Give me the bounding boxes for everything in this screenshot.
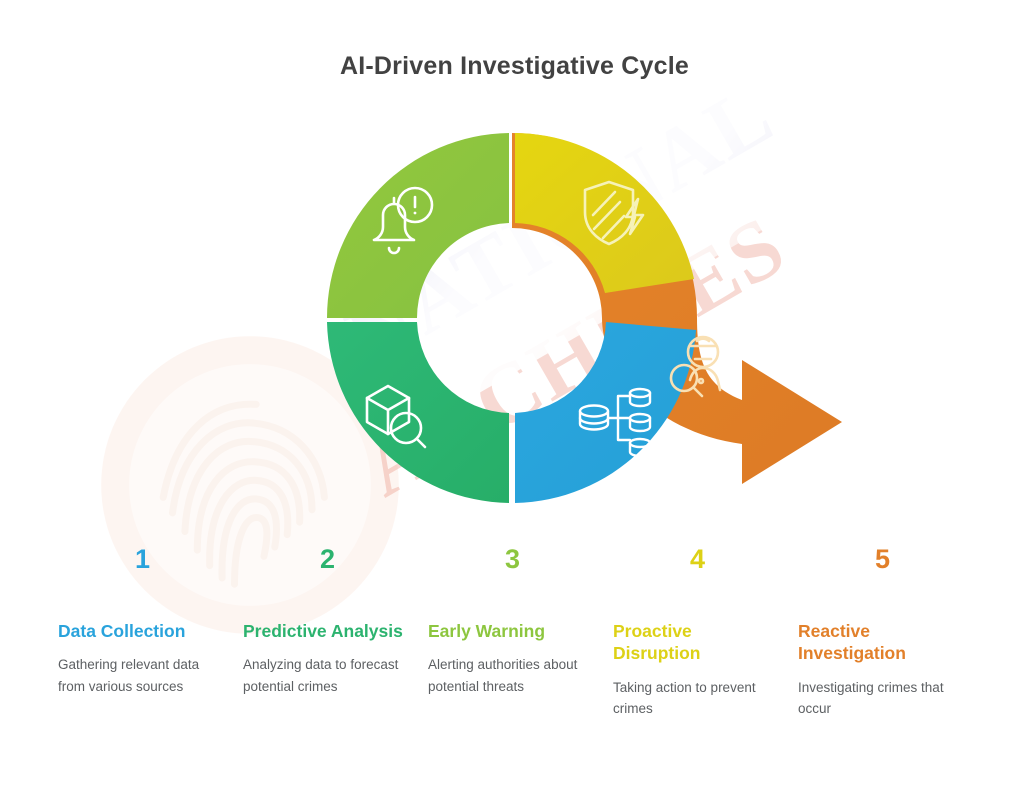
step-item-3[interactable]: 3 Early Warning Alerting authorities abo… — [428, 546, 613, 776]
step-title: Early Warning — [428, 620, 597, 642]
step-description: Taking action to prevent crimes — [613, 677, 782, 720]
step-description: Analyzing data to forecast potential cri… — [243, 654, 412, 697]
step-title: Predictive Analysis — [243, 620, 412, 642]
segment-predictive-analysis[interactable] — [327, 322, 509, 503]
investigative-cycle-diagram — [0, 0, 1029, 540]
segment-early-warning[interactable] — [327, 133, 509, 318]
proactive-disruption-arc — [515, 133, 694, 293]
step-title: Proactive Disruption — [613, 620, 782, 665]
step-item-5[interactable]: 5 Reactive Investigation Investigating c… — [798, 546, 983, 776]
step-number: 3 — [428, 546, 597, 573]
step-title: Data Collection — [58, 620, 227, 642]
segment-data-collection[interactable] — [515, 322, 696, 503]
segment-proactive-disruption[interactable] — [515, 133, 694, 293]
steps-legend: 1 Data Collection Gathering relevant dat… — [58, 546, 1008, 776]
data-collection-arc — [515, 322, 696, 503]
step-title: Reactive Investigation — [798, 620, 967, 665]
step-item-1[interactable]: 1 Data Collection Gathering relevant dat… — [58, 546, 243, 776]
early-warning-arc — [327, 133, 509, 318]
step-item-4[interactable]: 4 Proactive Disruption Taking action to … — [613, 546, 798, 776]
step-item-2[interactable]: 2 Predictive Analysis Analyzing data to … — [243, 546, 428, 776]
step-number: 5 — [798, 546, 967, 573]
step-number: 1 — [58, 546, 227, 573]
predictive-analysis-arc — [327, 322, 509, 503]
step-number: 2 — [243, 546, 412, 573]
step-description: Gathering relevant data from various sou… — [58, 654, 227, 697]
page-title: AI-Driven Investigative Cycle — [0, 52, 1029, 81]
step-description: Alerting authorities about potential thr… — [428, 654, 597, 697]
step-number: 4 — [613, 546, 782, 573]
step-description: Investigating crimes that occur — [798, 677, 967, 720]
infographic-canvas: NATIONAL ARCHIVES AI-Driven Investigativ… — [0, 0, 1029, 800]
